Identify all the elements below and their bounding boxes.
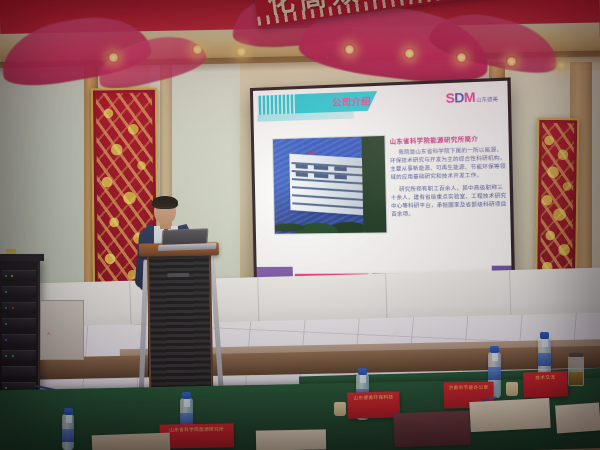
conference-photo-scene: 化高效节能环保推介会 公司介绍 SDM山东德美 SDM — [0, 0, 600, 450]
glasses-icon — [155, 207, 175, 211]
water-bottle[interactable] — [62, 414, 74, 450]
slide-paragraph-1: 我院是山东省科学院下属的一所以能源、环保技术研究与开发为主的综合性科研机构，主要… — [390, 146, 506, 182]
slide-building-photo: SDM — [272, 135, 388, 235]
slide-body-text: 我院是山东省科学院下属的一所以能源、环保技术研究与开发为主的综合性科研机构，主要… — [390, 146, 507, 223]
table-name-card: 技术交流 — [523, 371, 568, 398]
slide-band-stripes — [257, 94, 297, 115]
handout-paper[interactable] — [256, 429, 326, 450]
slide-paragraph-2: 研究所现有职工百余人，其中高级职称三十余人，建有省级重点实验室、工程技术研究中心… — [391, 184, 507, 219]
handout-paper[interactable] — [469, 398, 550, 432]
ceiling-spotlight — [506, 56, 517, 67]
logo-letter-m: M — [464, 89, 476, 105]
logo-chinese-text: 山东德美 — [476, 97, 498, 104]
name-card-text: 技术交流 — [526, 375, 564, 382]
sdm-logo: SDM山东德美 — [445, 88, 498, 106]
building-logo-mark: SDM — [307, 150, 316, 156]
ceiling-spotlight — [108, 52, 119, 63]
photo-foliage-side — [361, 136, 386, 233]
table-name-card: 山东德美环保科技 — [347, 391, 400, 418]
slide-heading: 山东省科学院能源研究所简介 — [390, 133, 506, 146]
ceiling-spotlight — [556, 60, 567, 71]
name-card-text: 济南市节能办公室 — [447, 386, 491, 393]
panel-warning-label: ⚠ — [47, 331, 52, 336]
podium — [145, 242, 216, 391]
logo-letter-d: D — [454, 90, 464, 106]
name-card-text: 山东德美环保科技 — [350, 395, 396, 402]
ceiling-spotlight — [456, 52, 467, 63]
laptop-keyboard — [158, 243, 217, 251]
handout-paper[interactable] — [555, 402, 600, 433]
ceiling-spotlight — [404, 48, 415, 59]
handout-paper[interactable] — [92, 433, 171, 450]
laptop[interactable] — [160, 228, 217, 252]
paper-cup[interactable] — [334, 402, 346, 416]
rack-top — [0, 254, 44, 261]
table-name-card: 山东省科学院能源研究所 — [160, 423, 234, 448]
paper-cup[interactable] — [506, 382, 518, 396]
wall-control-panel[interactable]: ⚠ — [40, 300, 84, 360]
slide-title-label: 公司介绍 — [332, 94, 372, 109]
led-presentation-screen[interactable]: 公司介绍 SDM山东德美 SDM — [250, 77, 515, 288]
logo-letter-s: S — [445, 90, 454, 106]
ceiling-spotlight — [192, 44, 203, 55]
av-equipment-rack[interactable] — [0, 258, 40, 410]
rack-label — [6, 249, 16, 254]
ceiling-spotlight — [236, 46, 247, 57]
tea-jar[interactable] — [568, 356, 584, 386]
slide-title-band: 公司介绍 — [257, 91, 378, 115]
presentation-slide: 公司介绍 SDM山东德美 SDM — [253, 81, 512, 285]
document-folder[interactable] — [393, 411, 470, 448]
name-card-text: 山东省科学院能源研究所 — [163, 427, 231, 434]
ceiling-spotlight — [344, 44, 355, 55]
podium-plate — [167, 273, 189, 277]
